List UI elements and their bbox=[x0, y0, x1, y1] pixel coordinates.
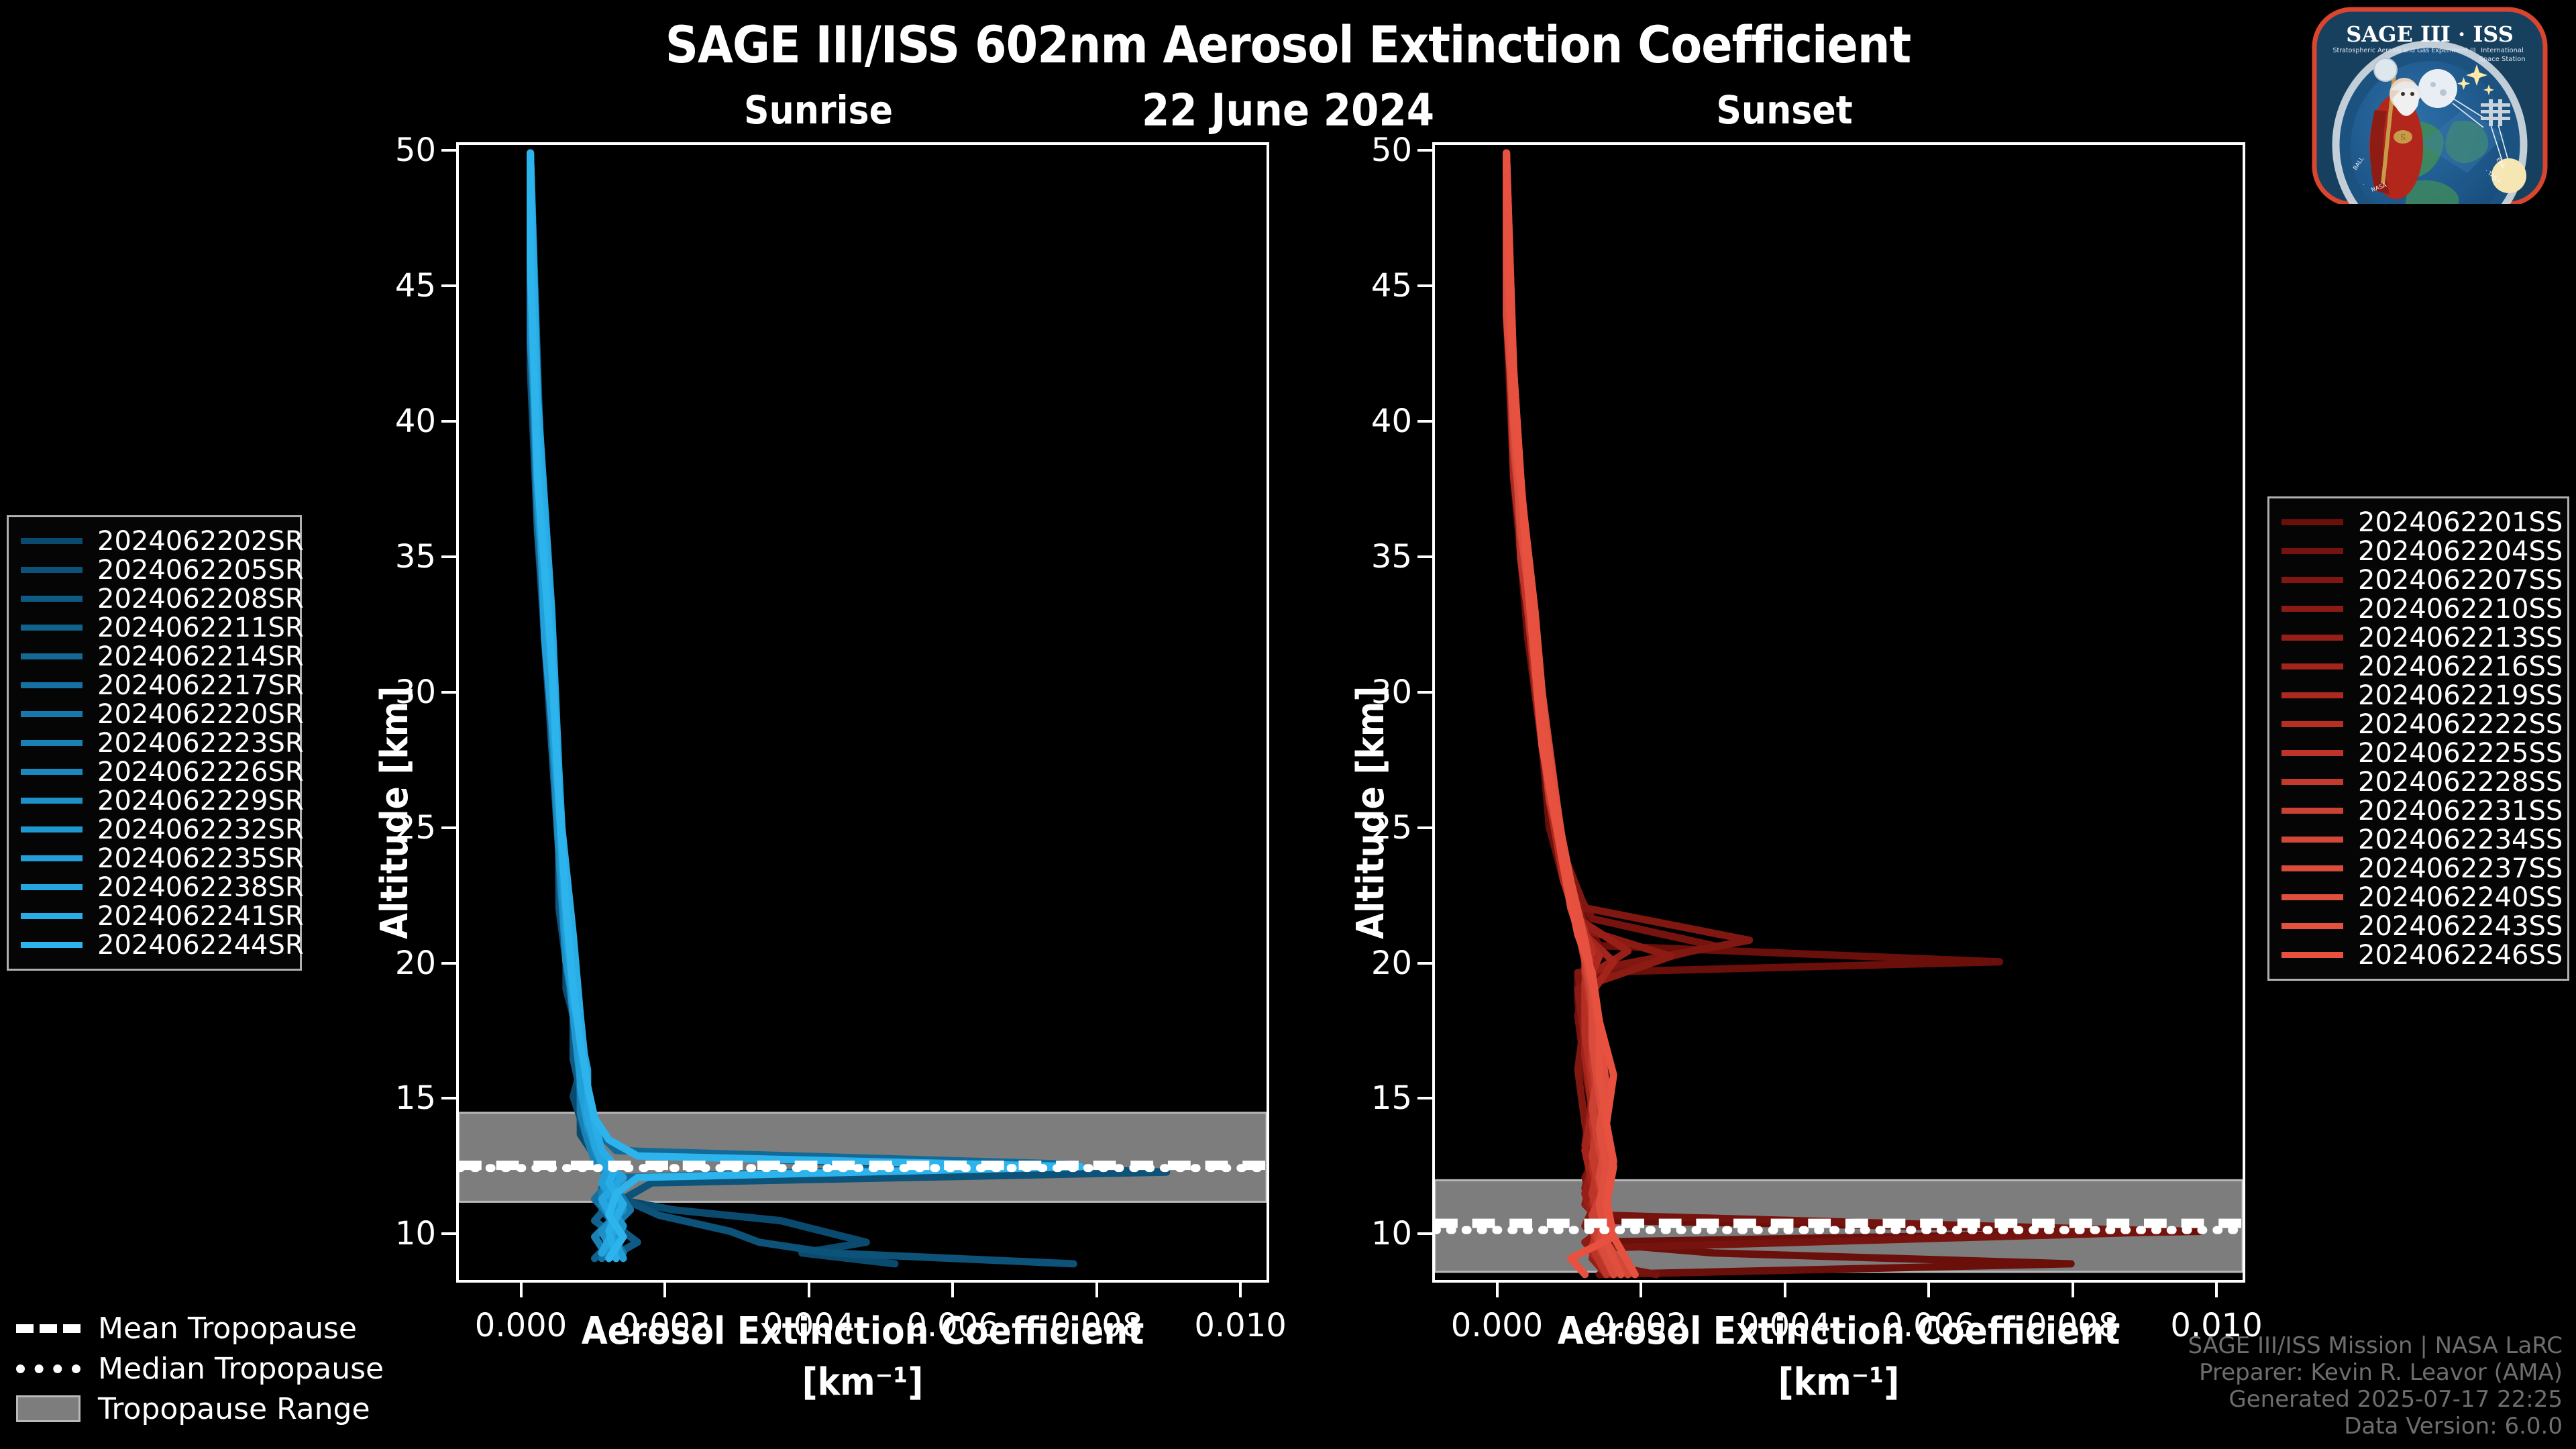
sunrise-ytick-mark bbox=[441, 1232, 456, 1235]
profile-line bbox=[531, 153, 1081, 1258]
sunrise-legend-label: 2024062244SR bbox=[97, 930, 304, 961]
sunset-legend-label: 2024062213SS bbox=[2358, 623, 2563, 653]
panel-title-sunset: Sunset bbox=[1570, 87, 1999, 133]
filled-band-icon bbox=[16, 1395, 80, 1422]
series-color-swatch-icon bbox=[21, 740, 83, 746]
sunset-xtick-mark bbox=[1927, 1283, 1930, 1297]
sunset-xtick-mark bbox=[2072, 1283, 2074, 1297]
sunrise-legend-item[interactable]: 2024062244SR bbox=[21, 930, 288, 959]
page-title: SAGE III/ISS 602nm Aerosol Extinction Co… bbox=[0, 15, 2576, 74]
logo-iss-line1: International bbox=[2481, 47, 2524, 54]
series-color-swatch-icon bbox=[21, 653, 83, 659]
sunrise-legend-label: 2024062226SR bbox=[97, 757, 304, 788]
sunrise-legend-item[interactable]: 2024062238SR bbox=[21, 873, 288, 902]
sunset-legend-item[interactable]: 2024062210SS bbox=[2282, 594, 2555, 623]
sunrise-legend-label: 2024062229SR bbox=[97, 786, 304, 816]
sunrise-ytick-label: 35 bbox=[335, 538, 436, 576]
sunset-xtick-mark bbox=[1496, 1283, 1499, 1297]
sunrise-ytick-mark bbox=[441, 1097, 456, 1099]
credit-line-3: Generated 2025-07-17 22:25 bbox=[2188, 1386, 2563, 1413]
sunset-x-axis-title-1: Aerosol Extinction Coefficient bbox=[1432, 1309, 2245, 1353]
sunset-y-axis-title: Altitude [km] bbox=[1349, 686, 1393, 939]
sunrise-legend-label: 2024062232SR bbox=[97, 814, 304, 845]
sunrise-xtick-mark bbox=[808, 1283, 810, 1297]
sunset-legend-label: 2024062210SS bbox=[2358, 594, 2563, 625]
sunset-series-legend[interactable]: 2024062201SS2024062204SS2024062207SS2024… bbox=[2267, 496, 2569, 981]
sunset-legend-item[interactable]: 2024062216SS bbox=[2282, 652, 2555, 681]
sunset-ytick-label: 10 bbox=[1311, 1215, 1412, 1252]
credit-line-1: SAGE III/ISS Mission | NASA LaRC bbox=[2188, 1332, 2563, 1359]
sunrise-legend-label: 2024062241SR bbox=[97, 901, 304, 932]
credit-line-2: Preparer: Kevin R. Leavor (AMA) bbox=[2188, 1359, 2563, 1386]
sunset-xtick-mark bbox=[1784, 1283, 1786, 1297]
sunset-xtick-mark bbox=[2215, 1283, 2218, 1297]
sunset-legend-label: 2024062228SS bbox=[2358, 767, 2563, 798]
sunset-legend-label: 2024062201SS bbox=[2358, 507, 2563, 538]
sunset-legend-label: 2024062243SS bbox=[2358, 911, 2563, 942]
sunset-ytick-label: 40 bbox=[1311, 402, 1412, 440]
sunrise-legend-label: 2024062214SR bbox=[97, 641, 304, 672]
sunset-ytick-label: 20 bbox=[1311, 945, 1412, 982]
series-color-swatch-icon bbox=[2282, 952, 2343, 958]
series-color-swatch-icon bbox=[21, 596, 83, 602]
sunrise-xtick-mark bbox=[1095, 1283, 1098, 1297]
logo-title: SAGE III · ISS bbox=[2346, 21, 2514, 47]
sunrise-legend-label: 2024062205SR bbox=[97, 555, 304, 586]
credits-block: SAGE III/ISS Mission | NASA LaRC Prepare… bbox=[2188, 1332, 2563, 1440]
series-color-swatch-icon bbox=[2282, 894, 2343, 900]
series-color-swatch-icon bbox=[2282, 865, 2343, 871]
sunset-legend-label: 2024062207SS bbox=[2358, 565, 2563, 596]
legend-label-median-tropopause: Median Tropopause bbox=[98, 1352, 384, 1386]
sunrise-legend-label: 2024062220SR bbox=[97, 699, 304, 730]
sunrise-ytick-mark bbox=[441, 149, 456, 152]
sunset-legend-label: 2024062204SS bbox=[2358, 536, 2563, 567]
sunset-ytick-mark bbox=[1417, 962, 1432, 965]
series-color-swatch-icon bbox=[2282, 750, 2343, 756]
series-color-swatch-icon bbox=[2282, 692, 2343, 698]
sunset-ytick-mark bbox=[1417, 826, 1432, 829]
sunrise-ytick-label: 50 bbox=[335, 131, 436, 169]
sunset-ytick-mark bbox=[1417, 149, 1432, 152]
sunset-legend-label: 2024062246SS bbox=[2358, 940, 2563, 971]
sunset-ytick-label: 50 bbox=[1311, 131, 1412, 169]
sunset-legend-item[interactable]: 2024062234SS bbox=[2282, 825, 2555, 854]
sunrise-xtick-mark bbox=[951, 1283, 954, 1297]
sunset-ytick-mark bbox=[1417, 284, 1432, 287]
sunrise-legend-item[interactable]: 2024062220SR bbox=[21, 700, 288, 729]
sunset-x-axis-title-2: [km⁻¹] bbox=[1432, 1360, 2245, 1404]
dotted-line-icon bbox=[16, 1364, 80, 1373]
series-color-swatch-icon bbox=[21, 884, 83, 890]
series-color-swatch-icon bbox=[2282, 721, 2343, 727]
profile-line bbox=[531, 153, 1067, 1253]
sunrise-ytick-label: 15 bbox=[335, 1079, 436, 1117]
sunrise-ytick-label: 45 bbox=[335, 267, 436, 305]
sunrise-x-axis-title-1: Aerosol Extinction Coefficient bbox=[456, 1309, 1269, 1353]
sunrise-ytick-mark bbox=[441, 555, 456, 558]
sunset-xtick-mark bbox=[1640, 1283, 1642, 1297]
sunrise-legend-item[interactable]: 2024062229SR bbox=[21, 786, 288, 815]
legend-item-median-tropopause: Median Tropopause bbox=[16, 1348, 432, 1389]
sunrise-ytick-mark bbox=[441, 691, 456, 694]
series-color-swatch-icon bbox=[21, 711, 83, 717]
series-color-swatch-icon bbox=[21, 798, 83, 804]
sunset-ytick-label: 15 bbox=[1311, 1079, 1412, 1117]
series-color-swatch-icon bbox=[2282, 663, 2343, 669]
sunrise-legend-item[interactable]: 2024062235SR bbox=[21, 844, 288, 873]
sunset-legend-item[interactable]: 2024062231SS bbox=[2282, 796, 2555, 825]
sunset-legend-item[interactable]: 2024062240SS bbox=[2282, 883, 2555, 912]
sunrise-legend-item[interactable]: 2024062226SR bbox=[21, 757, 288, 786]
sunrise-ytick-label: 40 bbox=[335, 402, 436, 440]
panel-title-sunrise: Sunrise bbox=[604, 87, 1033, 133]
sunrise-ytick-mark bbox=[441, 284, 456, 287]
sunrise-ytick-mark bbox=[441, 826, 456, 829]
sunset-legend-item[interactable]: 2024062237SS bbox=[2282, 854, 2555, 883]
series-color-swatch-icon bbox=[21, 913, 83, 919]
sunrise-legend-item[interactable]: 2024062241SR bbox=[21, 902, 288, 930]
sunrise-legend-label: 2024062238SR bbox=[97, 872, 304, 903]
sunset-ytick-mark bbox=[1417, 420, 1432, 423]
sunset-legend-label: 2024062234SS bbox=[2358, 824, 2563, 855]
sunrise-xtick-mark bbox=[1239, 1283, 1242, 1297]
series-color-swatch-icon bbox=[21, 942, 83, 948]
sunset-legend-item[interactable]: 2024062204SS bbox=[2282, 537, 2555, 566]
legend-label-tropopause-range: Tropopause Range bbox=[98, 1392, 370, 1426]
profile-line bbox=[531, 153, 1167, 1264]
series-color-swatch-icon bbox=[2282, 635, 2343, 641]
logo-iss-line2: Space Station bbox=[2479, 56, 2525, 63]
series-color-swatch-icon bbox=[2282, 577, 2343, 583]
tropopause-legend: Mean Tropopause Median Tropopause Tropop… bbox=[16, 1308, 432, 1429]
sunset-legend-item[interactable]: 2024062225SS bbox=[2282, 739, 2555, 767]
sunset-legend-label: 2024062222SS bbox=[2358, 709, 2563, 740]
sunrise-ytick-mark bbox=[441, 962, 456, 965]
legend-label-mean-tropopause: Mean Tropopause bbox=[98, 1311, 357, 1346]
series-color-swatch-icon bbox=[21, 769, 83, 775]
sunrise-ytick-label: 20 bbox=[335, 945, 436, 982]
sunrise-legend-label: 2024062235SR bbox=[97, 843, 304, 874]
legend-item-tropopause-range: Tropopause Range bbox=[16, 1389, 432, 1429]
series-color-swatch-icon bbox=[21, 567, 83, 573]
sunrise-legend-label: 2024062217SR bbox=[97, 670, 304, 701]
logo-subtitle: Stratospheric Aerosol and Gas Experiment… bbox=[2332, 47, 2475, 54]
series-color-swatch-icon bbox=[2282, 606, 2343, 612]
sunset-legend-item[interactable]: 2024062213SS bbox=[2282, 623, 2555, 652]
series-color-swatch-icon bbox=[2282, 779, 2343, 785]
series-color-swatch-icon bbox=[2282, 519, 2343, 525]
sunrise-x-axis-title-2: [km⁻¹] bbox=[456, 1360, 1269, 1404]
sunset-ytick-label: 35 bbox=[1311, 538, 1412, 576]
sunset-legend-item[interactable]: 2024062246SS bbox=[2282, 941, 2555, 969]
sunrise-legend-item[interactable]: 2024062211SR bbox=[21, 613, 288, 642]
series-color-swatch-icon bbox=[21, 855, 83, 861]
sunrise-legend-item[interactable]: 2024062202SR bbox=[21, 527, 288, 555]
sunset-ytick-mark bbox=[1417, 1097, 1432, 1099]
sunset-legend-label: 2024062225SS bbox=[2358, 738, 2563, 769]
series-color-swatch-icon bbox=[2282, 548, 2343, 554]
series-color-swatch-icon bbox=[21, 682, 83, 688]
sunset-ytick-mark bbox=[1417, 691, 1432, 694]
sunset-plot bbox=[1432, 142, 2245, 1283]
profile-line bbox=[1507, 153, 1635, 1275]
sunset-plot-canvas bbox=[1435, 145, 2243, 1280]
sunset-legend-item[interactable]: 2024062219SS bbox=[2282, 681, 2555, 710]
dashed-line-icon bbox=[16, 1324, 80, 1333]
sunset-ytick-mark bbox=[1417, 1232, 1432, 1235]
profile-line bbox=[1507, 153, 1614, 1275]
series-color-swatch-icon bbox=[21, 538, 83, 544]
series-color-swatch-icon bbox=[21, 826, 83, 833]
sunrise-legend-item[interactable]: 2024062214SR bbox=[21, 642, 288, 671]
sunrise-legend-label: 2024062211SR bbox=[97, 612, 304, 643]
sunrise-legend-item[interactable]: 2024062217SR bbox=[21, 671, 288, 700]
sunset-legend-label: 2024062216SS bbox=[2358, 651, 2563, 682]
series-color-swatch-icon bbox=[21, 625, 83, 631]
sunset-ytick-label: 45 bbox=[1311, 267, 1412, 305]
sunset-legend-item[interactable]: 2024062207SS bbox=[2282, 566, 2555, 594]
sage-iii-iss-logo: S BALL · NASA ESA · TAS-I · SAGE III · I… bbox=[2289, 3, 2571, 204]
sunset-legend-label: 2024062237SS bbox=[2358, 853, 2563, 884]
series-color-swatch-icon bbox=[2282, 837, 2343, 843]
legend-item-mean-tropopause: Mean Tropopause bbox=[16, 1308, 432, 1348]
sunset-legend-label: 2024062240SS bbox=[2358, 882, 2563, 913]
sunrise-legend-label: 2024062208SR bbox=[97, 584, 304, 614]
sunrise-legend-item[interactable]: 2024062223SR bbox=[21, 729, 288, 757]
sunrise-legend-label: 2024062223SR bbox=[97, 728, 304, 759]
sunrise-legend-item[interactable]: 2024062205SR bbox=[21, 555, 288, 584]
sunset-legend-label: 2024062231SS bbox=[2358, 796, 2563, 826]
sunrise-plot-canvas bbox=[459, 145, 1267, 1280]
svg-text:S: S bbox=[2400, 133, 2406, 142]
sunrise-legend-item[interactable]: 2024062232SR bbox=[21, 815, 288, 844]
sunrise-legend-item[interactable]: 2024062208SR bbox=[21, 584, 288, 613]
sunset-legend-item[interactable]: 2024062243SS bbox=[2282, 912, 2555, 941]
sunrise-xtick-mark bbox=[663, 1283, 666, 1297]
sunrise-plot bbox=[456, 142, 1269, 1283]
credit-line-4: Data Version: 6.0.0 bbox=[2188, 1413, 2563, 1440]
sunrise-series-legend[interactable]: 2024062202SR2024062205SR2024062208SR2024… bbox=[7, 515, 302, 971]
sunset-legend-label: 2024062219SS bbox=[2358, 680, 2563, 711]
sunrise-xtick-mark bbox=[520, 1283, 523, 1297]
sunset-legend-item[interactable]: 2024062222SS bbox=[2282, 710, 2555, 739]
sunset-ytick-mark bbox=[1417, 555, 1432, 558]
sunrise-ytick-label: 10 bbox=[335, 1215, 436, 1252]
sunrise-legend-label: 2024062202SR bbox=[97, 526, 304, 557]
series-color-swatch-icon bbox=[2282, 923, 2343, 929]
date-subtitle: 22 June 2024 bbox=[0, 85, 2576, 136]
sunrise-y-axis-title: Altitude [km] bbox=[373, 686, 417, 939]
sunset-legend-item[interactable]: 2024062201SS bbox=[2282, 508, 2555, 537]
series-color-swatch-icon bbox=[2282, 808, 2343, 814]
sunrise-ytick-mark bbox=[441, 420, 456, 423]
sunset-legend-item[interactable]: 2024062228SS bbox=[2282, 767, 2555, 796]
